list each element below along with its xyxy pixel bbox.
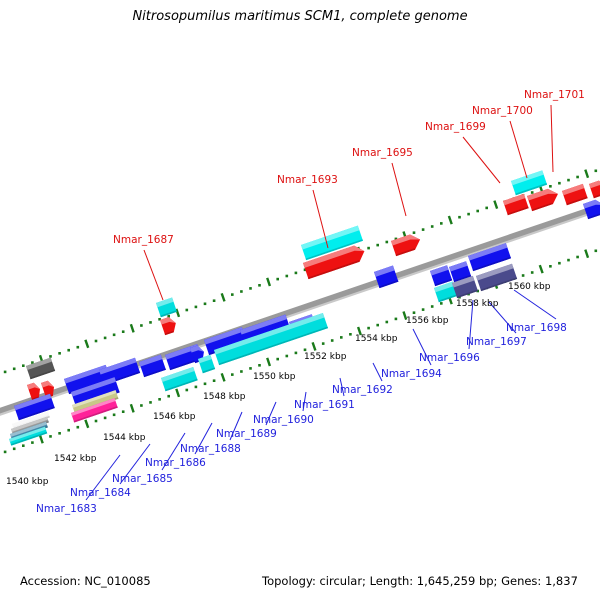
genome-map-figure: Nitrosopumilus maritimus SCM1, complete … [0, 0, 600, 600]
scale-dot [422, 308, 425, 311]
gene-feature [503, 194, 529, 215]
scale-dot [58, 432, 61, 435]
scale-tick-mark [540, 265, 543, 273]
scale-label-1544: 1544 kbp [103, 433, 146, 443]
scale-dot [104, 337, 107, 340]
scale-dot [204, 383, 207, 386]
leader-line-nmar_1701 [551, 105, 553, 172]
scale-tick-mark [85, 420, 88, 428]
scale-dot [549, 185, 552, 188]
scale-dot [340, 336, 343, 339]
gene-label-nmar_1687[interactable]: Nmar_1687 [113, 234, 174, 246]
scale-dot [286, 355, 289, 358]
scale-dot [231, 373, 234, 376]
scale-dot [149, 321, 152, 324]
scale-dot [576, 256, 579, 259]
accession-text: Accession: NC_010085 [20, 574, 151, 588]
gene-feature [589, 179, 600, 198]
scale-dot [595, 170, 598, 173]
scale-dot [567, 179, 570, 182]
scale-dot [567, 259, 570, 262]
gene-label-nmar_1688[interactable]: Nmar_1688 [180, 443, 241, 455]
gene-label-nmar_1699[interactable]: Nmar_1699 [425, 121, 486, 133]
scale-dot [485, 207, 488, 210]
scale-tick-mark [131, 324, 134, 332]
scale-dot [322, 342, 325, 345]
page-title: Nitrosopumilus maritimus SCM1, complete … [132, 9, 467, 24]
scale-dot [413, 231, 416, 234]
scale-dot [77, 426, 80, 429]
leader-line-nmar_1699 [463, 137, 500, 183]
scale-dot [431, 305, 434, 308]
scale-dot [413, 311, 416, 314]
scale-dot [195, 306, 198, 309]
scale-dot [304, 349, 307, 352]
gene-labels-layer: Nmar_1683Nmar_1684Nmar_1685Nmar_1686Nmar… [36, 89, 585, 515]
scale-dot [558, 182, 561, 185]
scale-dot [167, 315, 170, 318]
scale-dot [249, 367, 252, 370]
scale-dot [276, 278, 279, 281]
scale-dot [195, 386, 198, 389]
scale-tick-mark [131, 404, 134, 412]
scale-label-1552: 1552 kbp [304, 352, 347, 362]
scale-dot [458, 216, 461, 219]
scale-tick-mark [176, 309, 179, 317]
scale-dot [331, 339, 334, 342]
scale-tick-mark [222, 293, 225, 301]
scale-label-1542: 1542 kbp [54, 454, 97, 464]
gene-label-nmar_1700[interactable]: Nmar_1700 [472, 105, 533, 117]
scale-dot [531, 191, 534, 194]
gene-feature [139, 355, 166, 378]
scale-tick-mark [494, 201, 497, 209]
scale-dot [167, 395, 170, 398]
scale-dot [186, 309, 189, 312]
gene-label-nmar_1693[interactable]: Nmar_1693 [277, 174, 338, 186]
scale-dot [386, 321, 389, 324]
scale-dot [249, 287, 252, 290]
scale-dot [49, 355, 52, 358]
scale-dot [367, 327, 370, 330]
scale-dot [31, 361, 34, 364]
scale-dot [95, 420, 98, 423]
scale-dot [4, 371, 7, 374]
scale-dot [276, 358, 279, 361]
scale-dot [376, 244, 379, 247]
scale-dot [149, 401, 152, 404]
scale-dot [349, 333, 352, 336]
gene-feature [391, 232, 423, 256]
scale-dot [213, 299, 216, 302]
scale-dot [558, 262, 561, 265]
scale-label-1554: 1554 kbp [355, 334, 398, 344]
scale-dot [122, 410, 125, 413]
scale-dot [49, 435, 52, 438]
scale-tick-mark [585, 250, 588, 258]
gene-label-nmar_1696[interactable]: Nmar_1696 [419, 352, 480, 364]
scale-dot [22, 444, 25, 447]
scale-tick-mark [585, 170, 588, 178]
leader-line-nmar_1698 [514, 290, 556, 319]
scale-dot [522, 274, 525, 277]
scale-dot [231, 293, 234, 296]
scale-tick-mark [449, 216, 452, 224]
scale-dot [140, 404, 143, 407]
gene-label-nmar_1689[interactable]: Nmar_1689 [216, 428, 277, 440]
scale-dot [95, 340, 98, 343]
scale-dot [158, 398, 161, 401]
scale-dot [77, 346, 80, 349]
scale-dot [113, 414, 116, 417]
gene-feature [156, 298, 177, 318]
scale-tick-mark [176, 389, 179, 397]
scale-dot [213, 379, 216, 382]
scale-label-1540: 1540 kbp [6, 477, 49, 487]
scale-dot [13, 448, 16, 451]
scale-dot [113, 334, 116, 337]
gene-label-nmar_1701[interactable]: Nmar_1701 [524, 89, 585, 101]
gene-label-nmar_1690[interactable]: Nmar_1690 [253, 414, 314, 426]
scale-tick-mark [222, 373, 225, 381]
leader-line-nmar_1695 [392, 163, 406, 216]
scale-dot [531, 271, 534, 274]
scale-dot [58, 352, 61, 355]
gene-label-nmar_1694[interactable]: Nmar_1694 [381, 368, 442, 380]
scale-tick-mark [85, 340, 88, 348]
scale-dot [376, 324, 379, 327]
gene-label-nmar_1695[interactable]: Nmar_1695 [352, 147, 413, 159]
scale-dot [240, 290, 243, 293]
scale-dot [295, 272, 298, 275]
scale-dot [122, 330, 125, 333]
scale-tick-mark [267, 278, 270, 286]
gene-feature [527, 186, 561, 211]
gene-label-nmar_1698[interactable]: Nmar_1698 [506, 322, 567, 334]
scale-dot [431, 225, 434, 228]
leader-line-nmar_1687 [144, 250, 163, 300]
scale-dot [476, 210, 479, 213]
scale-dot [576, 176, 579, 179]
gene-label-nmar_1685[interactable]: Nmar_1685 [112, 473, 173, 485]
scale-dot [440, 222, 443, 225]
scale-dot [440, 302, 443, 305]
scale-dot [204, 303, 207, 306]
scale-dot [467, 213, 470, 216]
scale-label-1560: 1560 kbp [508, 282, 551, 292]
gene-label-nmar_1684[interactable]: Nmar_1684 [70, 487, 131, 499]
scale-dot [4, 451, 7, 454]
scale-label-1548: 1548 kbp [203, 392, 246, 402]
scale-dot [67, 349, 70, 352]
scale-dot [422, 228, 425, 231]
scale-dot [31, 441, 34, 444]
scale-dot [240, 370, 243, 373]
gene-label-nmar_1686[interactable]: Nmar_1686 [145, 457, 206, 469]
scale-dot [186, 389, 189, 392]
scale-tick-mark [313, 342, 316, 350]
gene-label-nmar_1697[interactable]: Nmar_1697 [466, 336, 527, 348]
scale-label-1546: 1546 kbp [153, 412, 196, 422]
scale-dot [367, 247, 370, 250]
gene-label-nmar_1683[interactable]: Nmar_1683 [36, 503, 97, 515]
scale-dot [22, 364, 25, 367]
gene-label-nmar_1691[interactable]: Nmar_1691 [294, 399, 355, 411]
gene-label-nmar_1692[interactable]: Nmar_1692 [332, 384, 393, 396]
scale-dot [286, 275, 289, 278]
scale-label-1550: 1550 kbp [253, 372, 296, 382]
scale-dot [595, 250, 598, 253]
scale-label-1558: 1558 kbp [456, 299, 499, 309]
scale-dot [258, 284, 261, 287]
scale-dot [395, 318, 398, 321]
gene-feature [161, 367, 198, 391]
scale-tick-mark [267, 358, 270, 366]
leader-line-nmar_1700 [510, 121, 527, 178]
scale-dot [13, 368, 16, 371]
scale-dot [67, 429, 70, 432]
gene-feature [562, 184, 588, 205]
scale-dot [104, 417, 107, 420]
gene-feature [160, 315, 178, 335]
scale-dot [549, 265, 552, 268]
scale-dot [258, 364, 261, 367]
scale-dot [140, 324, 143, 327]
scale-label-1556: 1556 kbp [406, 316, 449, 326]
genome-map-canvas: Nitrosopumilus maritimus SCM1, complete … [0, 0, 600, 600]
genome-stats-text: Topology: circular; Length: 1,645,259 bp… [261, 574, 578, 588]
scale-dot [386, 241, 389, 244]
gene-feature [26, 358, 55, 380]
scale-dot [295, 352, 298, 355]
scale-tick-mark [40, 435, 43, 443]
